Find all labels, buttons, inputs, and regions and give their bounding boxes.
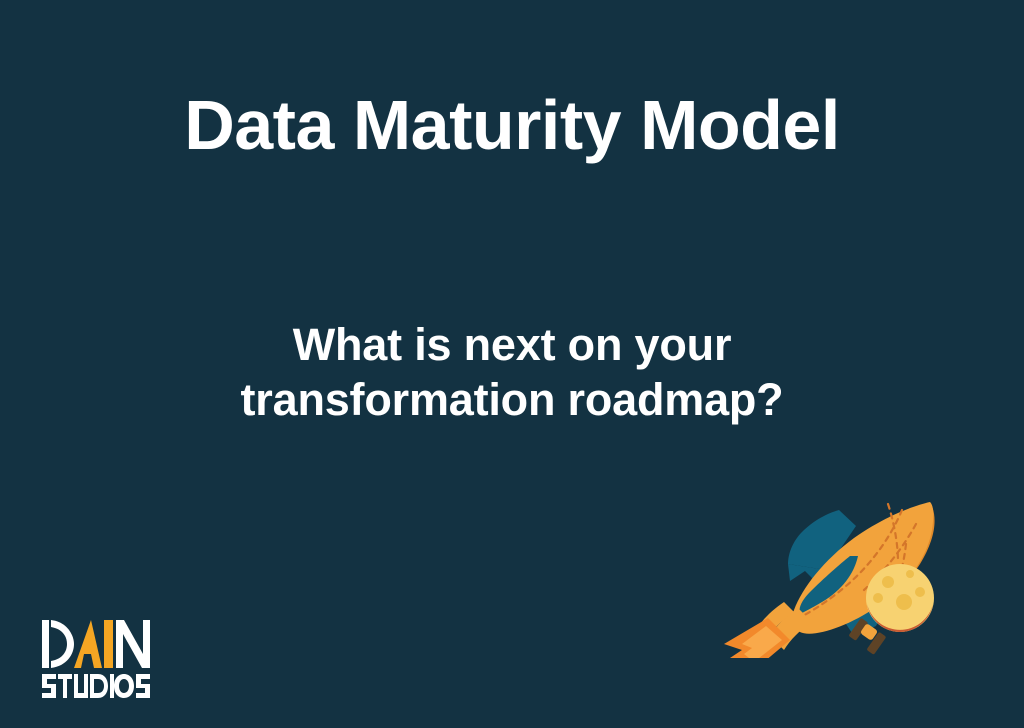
subtitle-block: What is next on your transformation road… bbox=[0, 318, 1024, 428]
page-title: Data Maturity Model bbox=[0, 88, 1024, 164]
logo-wordmark-dain-icon bbox=[42, 620, 150, 668]
dain-studios-logo[interactable] bbox=[40, 618, 164, 702]
rocket-illustration bbox=[706, 486, 956, 658]
logo-wordmark-studios-icon bbox=[42, 674, 150, 698]
subtitle-line-2: transformation roadmap? bbox=[0, 373, 1024, 428]
slide-canvas: Data Maturity Model What is next on your… bbox=[0, 0, 1024, 728]
page-title-block: Data Maturity Model bbox=[0, 88, 1024, 164]
subtitle-line-1: What is next on your bbox=[0, 318, 1024, 373]
planet-icon bbox=[866, 564, 934, 632]
